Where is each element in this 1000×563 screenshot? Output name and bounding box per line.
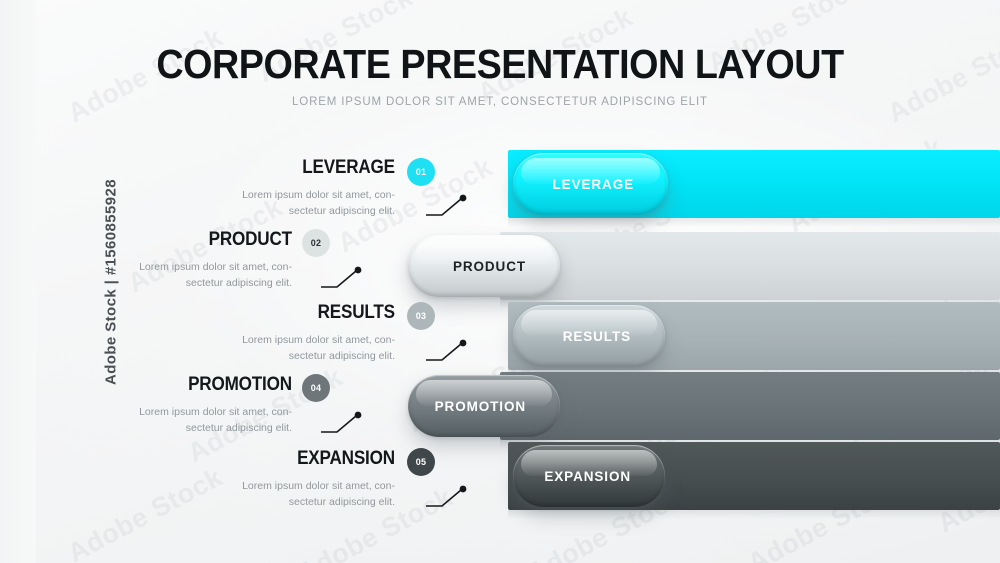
row-caption-results: RESULTSLorem ipsum dolor sit amet, con- …	[242, 303, 395, 365]
pill-button-results[interactable]: RESULTS	[513, 305, 665, 367]
connector-line-04	[320, 410, 366, 436]
row-title: LEVERAGE	[257, 158, 395, 177]
step-number-badge-04[interactable]: 04	[302, 374, 330, 402]
infographic-stage: LEVERAGELEVERAGELorem ipsum dolor sit am…	[0, 0, 1000, 563]
row-caption-promotion: PROMOTIONLorem ipsum dolor sit amet, con…	[139, 375, 292, 437]
connector-line-02	[320, 265, 366, 291]
step-number-badge-05[interactable]: 05	[407, 448, 435, 476]
row-caption-leverage: LEVERAGELorem ipsum dolor sit amet, con-…	[242, 158, 395, 220]
stage-bar-promotion	[500, 372, 1000, 440]
row-description: Lorem ipsum dolor sit amet, con- sectetu…	[242, 332, 395, 365]
step-number-label: 04	[311, 383, 322, 393]
pill-label: RESULTS	[563, 329, 631, 344]
row-title: PRODUCT	[154, 230, 292, 249]
step-number-badge-01[interactable]: 01	[407, 158, 435, 186]
row-description: Lorem ipsum dolor sit amet, con- sectetu…	[242, 187, 395, 220]
row-description: Lorem ipsum dolor sit amet, con- sectetu…	[139, 404, 292, 437]
step-number-label: 05	[416, 457, 427, 467]
pill-label: PRODUCT	[453, 259, 526, 274]
connector-line-03	[425, 338, 471, 364]
pill-button-leverage[interactable]: LEVERAGE	[513, 153, 668, 215]
pill-button-promotion[interactable]: PROMOTION	[408, 375, 560, 437]
row-description: Lorem ipsum dolor sit amet, con- sectetu…	[242, 478, 395, 511]
connector-line-01	[425, 193, 471, 219]
step-number-badge-02[interactable]: 02	[302, 229, 330, 257]
step-number-label: 01	[416, 167, 427, 177]
row-caption-product: PRODUCTLorem ipsum dolor sit amet, con- …	[139, 230, 292, 292]
pill-label: EXPANSION	[544, 469, 631, 484]
row-title: PROMOTION	[154, 375, 292, 394]
pill-label: LEVERAGE	[553, 177, 634, 192]
row-description: Lorem ipsum dolor sit amet, con- sectetu…	[139, 259, 292, 292]
pill-button-expansion[interactable]: EXPANSION	[513, 445, 665, 507]
row-caption-expansion: EXPANSIONLorem ipsum dolor sit amet, con…	[242, 449, 395, 511]
row-title: RESULTS	[257, 303, 395, 322]
step-number-badge-03[interactable]: 03	[407, 302, 435, 330]
pill-button-product[interactable]: PRODUCT	[408, 235, 560, 297]
connector-line-05	[425, 484, 471, 510]
row-title: EXPANSION	[257, 449, 395, 468]
stage-bar-product	[500, 232, 1000, 300]
step-number-label: 02	[311, 238, 322, 248]
pill-label: PROMOTION	[435, 399, 526, 414]
step-number-label: 03	[416, 311, 427, 321]
